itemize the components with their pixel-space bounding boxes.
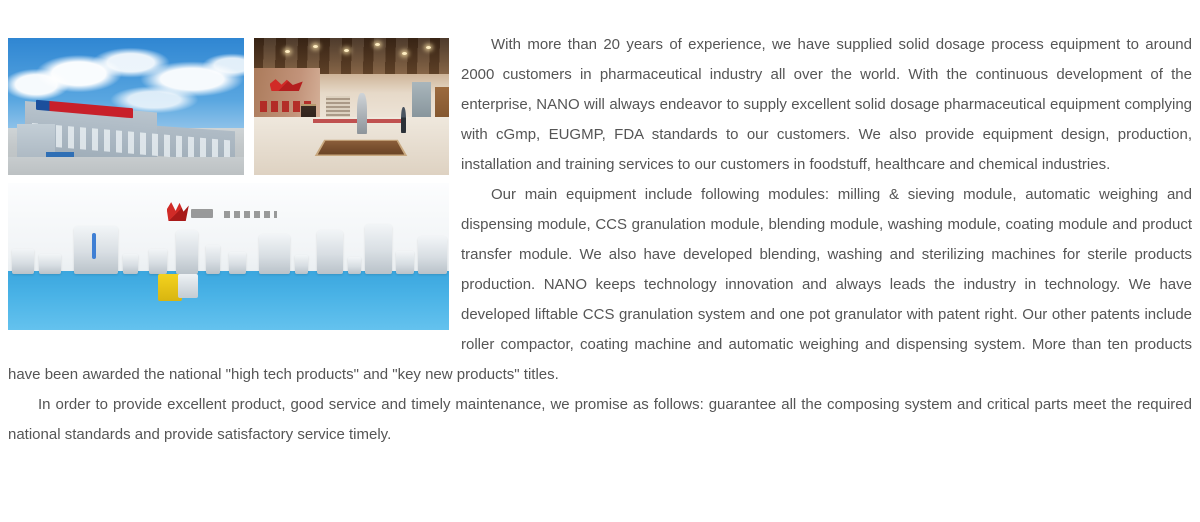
paragraph-3-text: In order to provide excellent product, g… xyxy=(8,396,1192,443)
center-sculpture xyxy=(357,93,367,134)
equipment-unit xyxy=(229,252,247,274)
equipment-unit xyxy=(365,224,391,274)
equipment-unit xyxy=(39,254,61,275)
ceiling-spotlight-icon xyxy=(313,45,318,48)
floor-rug xyxy=(315,140,407,156)
ceiling-spotlight-icon xyxy=(344,49,349,52)
factory-building-photo[interactable] xyxy=(8,38,244,175)
equipment-unit xyxy=(418,236,447,274)
company-profile-page: With more than 20 years of experience, w… xyxy=(0,0,1200,522)
paragraph-1-text: With more than 20 years of experience, w… xyxy=(461,36,1192,173)
visitor-figure xyxy=(401,107,406,133)
ceiling-spotlight-icon xyxy=(402,52,407,55)
equipment-unit xyxy=(348,257,361,275)
equipment-unit xyxy=(317,230,343,274)
blue-epoxy-floor xyxy=(8,271,449,330)
equipment-workshop-photo[interactable] xyxy=(8,183,449,330)
showroom-lobby-photo[interactable] xyxy=(254,38,449,175)
equipment-unit xyxy=(396,251,414,275)
equipment-unit xyxy=(74,226,118,275)
equipment-unit xyxy=(123,254,138,275)
front-road xyxy=(8,157,244,175)
paragraph-service-promise: In order to provide excellent product, g… xyxy=(8,390,1192,450)
equipment-unit xyxy=(295,255,308,274)
equipment-unit xyxy=(149,249,167,274)
equipment-unit xyxy=(12,249,34,274)
gallery-top-row xyxy=(8,38,449,175)
blue-transfer-pipe xyxy=(92,233,96,259)
photo-gallery xyxy=(8,38,449,330)
equipment-unit xyxy=(176,230,198,274)
equipment-unit xyxy=(206,245,219,274)
transfer-cabinet xyxy=(178,274,198,298)
equipment-unit xyxy=(259,234,290,274)
nano-banner-wordmark xyxy=(191,209,213,218)
banner-slogan-text xyxy=(224,211,277,218)
